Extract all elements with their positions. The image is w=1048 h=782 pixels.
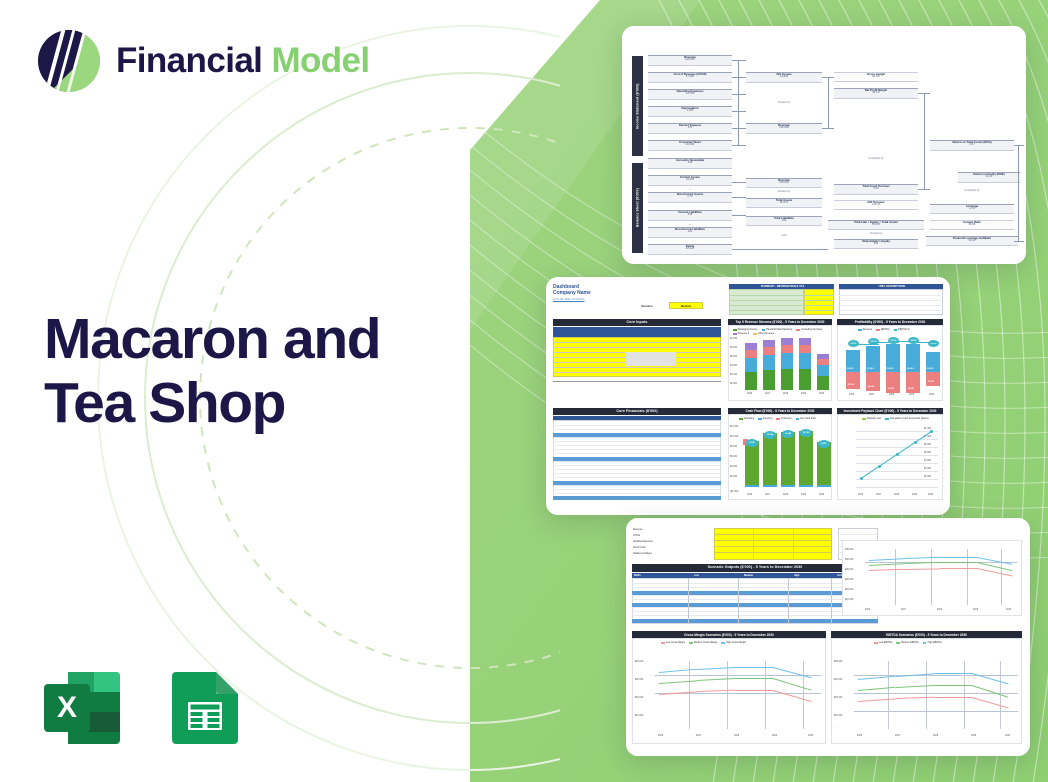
node-current-liabilities: Current Liabilities848 <box>648 210 732 221</box>
scenario-selector[interactable]: Medium <box>669 302 703 309</box>
brand-word-financial: Financial <box>116 41 262 80</box>
node-total-assets: Total Assets50,576 <box>746 198 822 208</box>
brand-wordmark: Financial Model <box>116 41 370 81</box>
op-multiplied-by-2: multiplied by <box>942 188 1002 192</box>
node-revenue: Revenue126,800 <box>648 55 732 66</box>
node-net-profit-margin: Net Profit Margin35.7% <box>834 88 918 99</box>
node-total-asset-turnover: Total Asset Turnover2.55 <box>834 184 918 195</box>
income-statement-label: Income Statement ($'000) <box>632 56 643 156</box>
core-inputs-title: Core Inputs <box>553 319 721 326</box>
node-revenue-3: Revenue126,800 <box>746 178 822 188</box>
node-financial-leverage-multiplier: Financial Leverage multiplier63.22 <box>926 236 1018 246</box>
dashboard-title-line2: Company Name <box>553 291 591 297</box>
dashboard-header: Dashboard Company Name <box>553 285 591 297</box>
node-equity: Equity40,128 <box>648 244 732 255</box>
node-total-liab-equity: Total Liab + Equity = Total Assets50,576 <box>828 220 924 230</box>
table-of-contents-link[interactable]: Go to the Table of Contents <box>553 298 585 301</box>
node-ar-turnover: A/R Turnover133.24 <box>834 200 918 210</box>
brand-logo: Financial Model <box>36 28 370 94</box>
node-corporate-taxes: Corporate Taxes20,636 <box>648 140 732 151</box>
gross-margin-scenarios-title: Gross Margin Scenarios ($'000) - 5 Years… <box>632 631 826 638</box>
node-depreciation: Depreciation1,285 <box>648 106 732 117</box>
scenario-input-labels: Revenue COGS Variable Expenses Fixed Cos… <box>632 528 712 560</box>
node-roa: Return on Total Assets (ROA)0.97 <box>930 140 1014 151</box>
brand-word-model: Model <box>271 41 369 80</box>
scenario-analysis-screenshot[interactable]: Revenue COGS Variable Expenses Fixed Cos… <box>626 518 1030 756</box>
gross-margin-scenarios-chart: Low Gross Margin Medium Gross Margin Hig… <box>632 638 826 744</box>
svg-text:X: X <box>57 691 77 724</box>
dashboard-screenshot[interactable]: Dashboard Company Name Go to the Table o… <box>546 277 950 515</box>
page-title-line2: Tea Shop <box>44 372 380 436</box>
left-panel: Financial Model Macaron and Tea Shop X <box>0 0 470 782</box>
dashboard-sheet: Dashboard Company Name Go to the Table o… <box>546 277 950 515</box>
node-shareholders-equity: Shareholder's Equity800 <box>834 239 918 249</box>
google-sheets-icon <box>162 664 250 752</box>
node-current-ratio: Current Ratio58.98 <box>930 220 1014 230</box>
scenario-sheet: Revenue COGS Variable Expenses Fixed Cos… <box>626 518 1030 756</box>
scenario-label: Scenario <box>641 304 653 308</box>
node-total-liabilities: Total Liabilities949 <box>746 216 822 226</box>
top-revenue-streams-chart: Packaging Service Handcraft Manufacturin… <box>728 325 832 401</box>
node-net-income: Net Income44,828 <box>746 72 822 83</box>
cash-flow-chart: Operating Investing Financing Net Cash F… <box>728 414 832 500</box>
core-financials-title: Core Financials ($'000) <box>553 408 721 415</box>
circle-bars-logo-icon <box>36 28 102 94</box>
op-divided-by-2: divided by <box>754 189 814 193</box>
profitability-chart: Revenue EBITDA EBITDA % 20,000 -13,000 2… <box>837 325 943 401</box>
op-divided-by-1: divided by <box>754 100 814 104</box>
page-title-line1: Macaron and <box>44 308 380 372</box>
node-non-current-assets: Non-Current Assets5,70 <box>648 192 732 203</box>
ebitda-scenarios-title: EBITDA Scenarios ($'000) - 5 Years to De… <box>831 631 1022 638</box>
op-add: Add <box>754 233 814 237</box>
node-operating-expenses: Operating Expenses12,758 <box>648 89 732 100</box>
dupont-analysis-screenshot[interactable]: Income Statement ($'000) Balance Sheet (… <box>622 26 1026 264</box>
node-accounts-receivable: Accounts Receivable948 <box>648 158 732 169</box>
node-interest-expense: Interest Expense137 <box>648 123 732 134</box>
node-leverage: Leverage1.0% <box>930 204 1014 214</box>
page-title: Macaron and Tea Shop <box>44 308 380 436</box>
node-cogs: Cost of Revenue (COGS)47,680 <box>648 72 732 83</box>
balance-sheet-label: Balance Sheet ($'000) <box>632 163 643 253</box>
node-roe: Return on Equity (ROE)61.23 <box>958 172 1020 183</box>
app-icons: X <box>38 664 250 752</box>
node-gross-margin: Gross margin62.0% <box>834 72 918 82</box>
revenue-scenarios-chart: $35,000 $30,000 $25,000 $20,000 $15,000 … <box>842 540 1022 616</box>
op-divided-by-3: divided by <box>846 231 906 235</box>
dupont-sheet: Income Statement ($'000) Balance Sheet (… <box>622 26 1026 264</box>
node-current-assets: Current Assets12,006 <box>648 175 732 186</box>
op-multiplied-by-1: multiplied by <box>846 156 906 160</box>
node-revenue-2: Revenue126,800 <box>746 123 822 134</box>
investment-payback-chart: Payback year Cumulative Cash Generated (… <box>837 414 943 500</box>
ebitda-scenarios-chart: Low EBITDA Medium EBITDA High EBITDA $25… <box>831 638 1022 744</box>
node-non-current-liabilities: Non-Current Liabilities103 <box>648 227 732 238</box>
microsoft-excel-icon: X <box>38 664 126 752</box>
